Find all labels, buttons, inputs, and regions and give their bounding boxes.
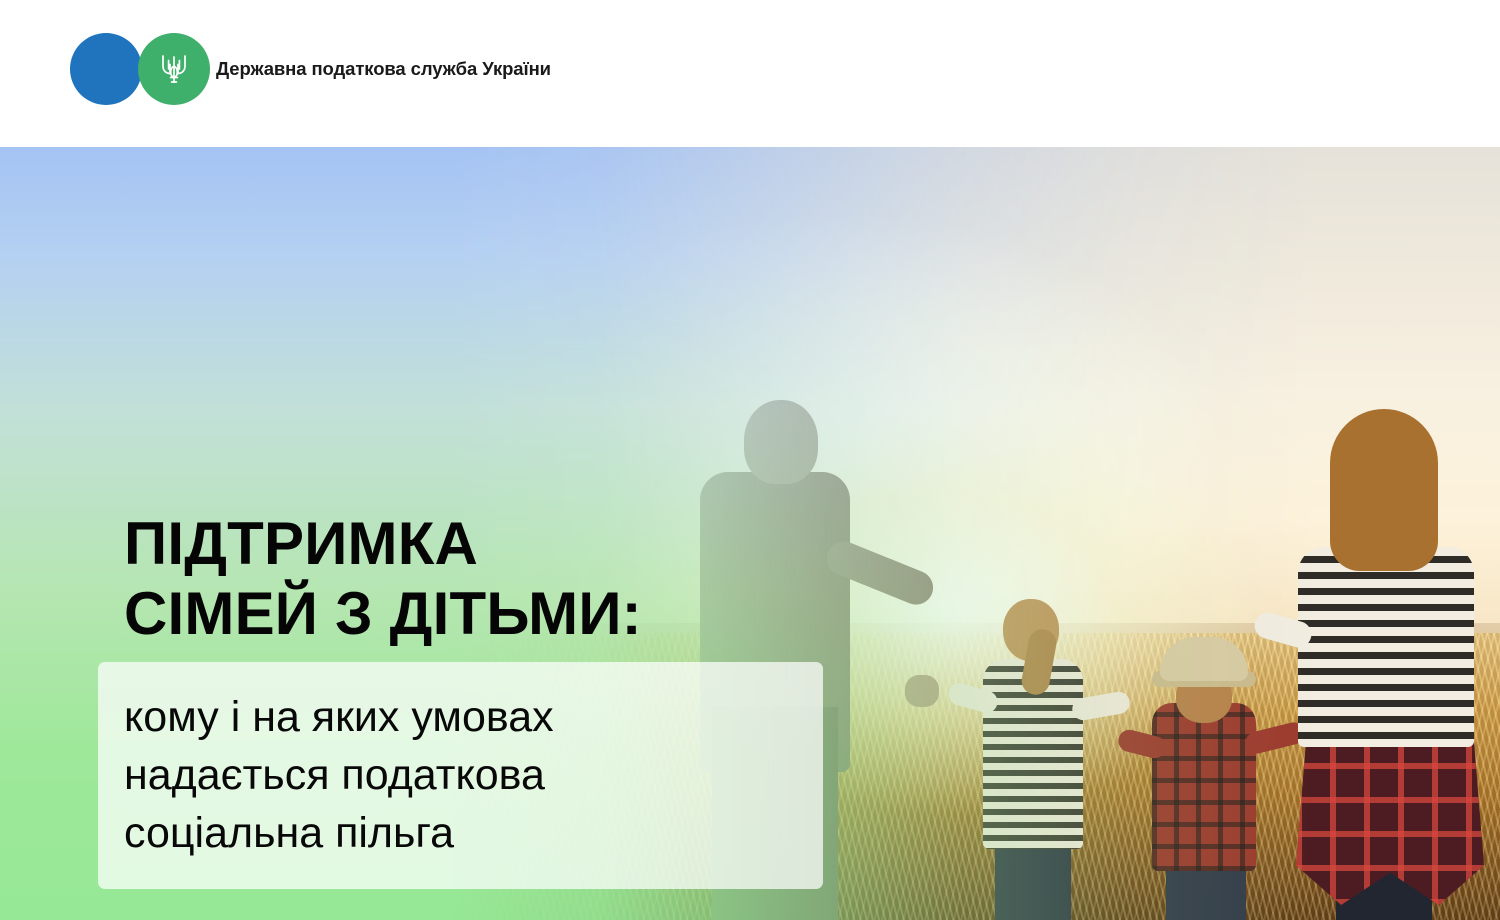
logo-marks	[70, 33, 210, 105]
organization-logo[interactable]: Державна податкова служба України	[70, 33, 551, 105]
green-circle-icon	[138, 33, 210, 105]
hero-banner: ПІДТРИМКА СІМЕЙ З ДІТЬМИ: кому і на яких…	[0, 147, 1500, 920]
blue-circle-icon	[70, 33, 142, 105]
logo-text: Державна податкова служба України	[216, 57, 551, 81]
hero-subtitle: кому і на яких умовах надається податков…	[124, 688, 799, 862]
hero-headline: ПІДТРИМКА СІМЕЙ З ДІТЬМИ:	[124, 509, 642, 649]
ukraine-trident-icon	[159, 51, 189, 87]
site-header: Державна податкова служба України	[0, 0, 1500, 147]
subtitle-panel: кому і на яких умовах надається податков…	[98, 662, 823, 889]
